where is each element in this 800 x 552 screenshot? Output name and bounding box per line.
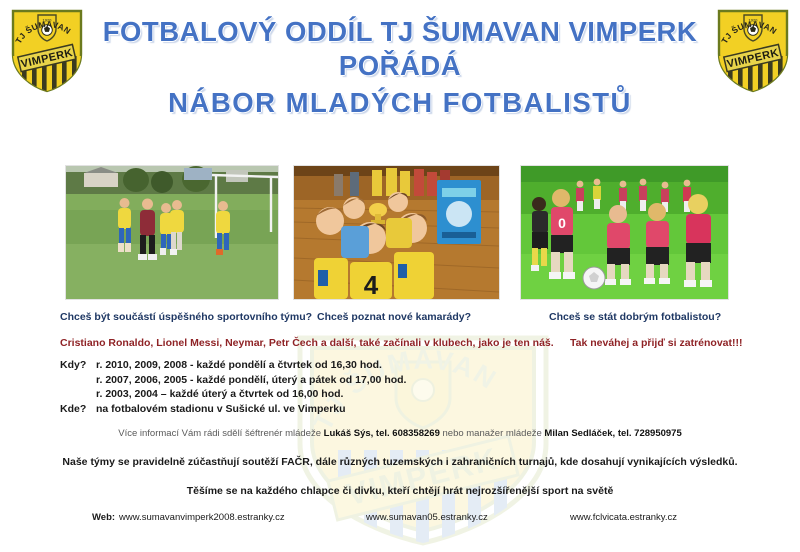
contact-line: Více informací Vám rádi sdělí šéftrenér … [0,428,800,439]
question-2: Chceš poznat nové kamarády? [317,311,471,323]
poster-title-line-2: POŘÁDÁ [0,52,800,80]
photo-strip: 4 [66,166,728,299]
call-to-action: Tak neváhej a přijď si zatrénovat!!! [570,337,743,349]
contact-prefix: Více informací Vám rádi sdělí šéftrenér … [118,428,323,439]
schedule-text-3: r. 2003, 2004 – každé úterý a čtvrtek od… [96,388,343,400]
poster-title-line-3: NÁBOR MLADÝCH FOTBALISTŮ [0,89,800,117]
schedule-row-4: Kde? na fotbalovém stadionu v Sušické ul… [0,403,800,418]
svg-text:4: 4 [364,270,379,299]
question-1: Chceš být součástí úspěšného sportovního… [60,311,312,323]
where-text: na fotbalovém stadionu v Sušické ul. ve … [96,403,346,415]
when-label: Kdy? [60,359,86,371]
schedule-row-1: Kdy? r. 2010, 2009, 2008 - každé pondělí… [0,359,800,374]
club-logo-right: 1920 TJ ŠUMAVAN VIMPERK [712,6,794,94]
photo-kids-trophy-indoor: 4 [294,166,499,299]
recruitment-poster: TJ ŠUMAVAN VIMPERK [0,0,800,552]
schedule-text-1: r. 2010, 2009, 2008 - každé pondělí a čt… [96,359,382,371]
info-block: Více informací Vám rádi sdělí šéftrenér … [0,428,800,497]
svg-text:0: 0 [558,215,566,231]
famous-players-line: Cristiano Ronaldo, Lionel Messi, Neymar,… [60,337,554,349]
teams-line: Naše týmy se pravidelně zúčastňují soutě… [0,456,800,468]
contact-middle: nebo manažer mládeže [440,428,545,439]
welcome-line: Těšíme se na každého chlapce či divku, k… [0,485,800,497]
web-link-3[interactable]: www.fclvicata.estranky.cz [570,512,677,523]
schedule-row-3: r. 2003, 2004 – každé úterý a čtvrtek od… [0,388,800,403]
poster-header: FOTBALOVÝ ODDÍL TJ ŠUMAVAN VIMPERK POŘÁD… [0,18,800,117]
contact-person-1: Lukáš Sýs, tel. 608358269 [324,428,440,439]
contact-person-2: Milan Sedláček, tel. 728950975 [544,428,681,439]
question-3: Chceš se stát dobrým fotbalistou? [549,311,721,323]
schedule-text-2: r. 2007, 2006, 2005 - každé pondělí, úte… [96,374,406,386]
web-label: Web: [92,512,115,523]
photo-kids-yellow-outdoor [66,166,278,299]
schedule-block: Kdy? r. 2010, 2009, 2008 - každé pondělí… [0,359,800,417]
web-link-2[interactable]: www.sumavan05.estranky.cz [366,512,488,523]
web-link-1[interactable]: www.sumavanvimperk2008.estranky.cz [119,512,285,523]
schedule-row-2: r. 2007, 2006, 2005 - každé pondělí, úte… [0,374,800,389]
photo-kids-red-outdoor: 0 [521,166,728,299]
poster-title-line-1: FOTBALOVÝ ODDÍL TJ ŠUMAVAN VIMPERK [0,18,800,46]
where-label: Kde? [60,403,86,415]
club-logo-left: 1920 TJ ŠUMAVAN VIMPERK [6,6,88,94]
